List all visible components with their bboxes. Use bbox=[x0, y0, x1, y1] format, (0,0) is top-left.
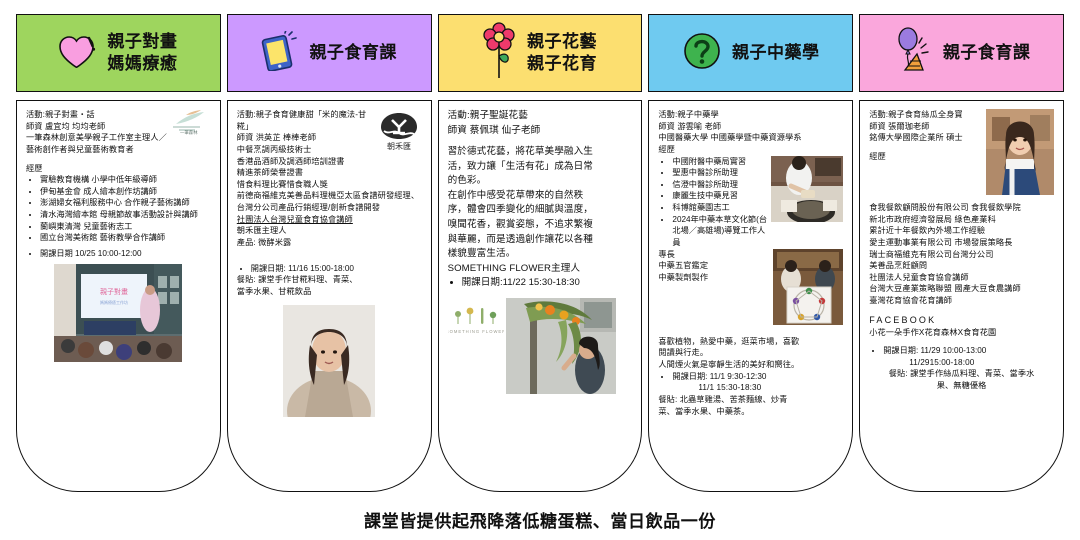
course-title-5: 親子食育課 bbox=[943, 42, 1031, 64]
course-header-5[interactable]: 親子食育課 bbox=[859, 14, 1064, 92]
course-header-1[interactable]: 親子對畫 媽媽療癒 bbox=[16, 14, 221, 92]
course-body-2: 朝禾匯 活動:親子食育健康甜「米的魔法-甘糀」 師資 洪英芷 棒棒老師 中餐烹調… bbox=[227, 100, 432, 492]
course-intro-4: 活動:親子中藥學 師資 游雲喻 老師 中國醫藥大學 中國藥學暨中藥資源學系 bbox=[658, 109, 843, 144]
course-column-1: 親子對畫 媽媽療癒 一筆森林 活動:親子對畫・話 師資 盧宜均 均均老師 一筆森… bbox=[16, 14, 221, 492]
course-link-line-2[interactable]: 社團法人台灣兒童食育協會講師 bbox=[237, 214, 422, 226]
footer-note: 課堂皆提供起飛降落低糖蛋糕、當日飲品一份 bbox=[0, 507, 1080, 532]
course-date: 開課日期 10/25 10:00-12:00 bbox=[40, 248, 211, 260]
instructor-portrait-2 bbox=[283, 305, 375, 422]
course-description-4: 喜歡植物，熱愛中藥，逛菜市場，喜歡 閱讀與行走。 人間煙火氣是寧靜生活的美好和嚮… bbox=[658, 336, 843, 371]
course-body-5: 活動:親子食育絲瓜全身寶 師資 張爾珈老師 銘傳大學國際企業所 碩士 經歷 食我… bbox=[859, 100, 1064, 492]
course-date: 開課日期: 11/1 9:30-12:30 bbox=[672, 371, 843, 383]
section-label-experience-1: 經歷 bbox=[26, 163, 211, 175]
list-item: 蘭嶼東清灣 兒童藝術志工 bbox=[40, 221, 211, 233]
section-label-experience-4: 經歷 bbox=[658, 144, 843, 156]
course-tail-2: 朝禾匯主理人 產品: 微酵米露 bbox=[237, 225, 422, 248]
course-intro-3: 活動:親子聖誕花藝 師資 蔡佩琪 仙子老師 bbox=[448, 109, 633, 138]
course-photo-wrap-3: SOMETHING FLOWER bbox=[448, 298, 633, 399]
question-mark-icon bbox=[682, 31, 722, 76]
svg-text:親子對畫: 親子對畫 bbox=[100, 287, 128, 296]
course-column-4: 親子中藥學 活動:親子中藥學 師資 游雲喻 老師 中國醫藥大學 中國藥學暨中藥資… bbox=[648, 14, 853, 492]
list-item: 實驗教育機構 小學中低年級導師 bbox=[40, 174, 211, 186]
course-header-3[interactable]: 親子花藝 親子花育 bbox=[438, 14, 643, 92]
course-date: 開課日期: 11/16 15:00-18:00 bbox=[251, 263, 422, 275]
course-body-3: 活動:親子聖誕花藝 師資 蔡佩琪 仙子老師 習於德式花藝，將花草美學融入生 活，… bbox=[438, 100, 643, 492]
course-meal-5: 餐貼: 課堂手作絲瓜料理、青菜、當季水 果、無糖優格 bbox=[869, 368, 1054, 391]
course-body-1: 一筆森林 活動:親子對畫・話 師資 盧宜均 均均老師 一筆森林創意美學親子工作室… bbox=[16, 100, 221, 492]
heart-icon bbox=[59, 34, 97, 73]
svg-text:朝禾匯: 朝禾匯 bbox=[387, 142, 411, 151]
course-title-2: 親子食育課 bbox=[309, 42, 397, 64]
flower-icon bbox=[483, 22, 517, 85]
course-column-2: 親子食育課 朝禾匯 活動:親子食育健康甜「米的魔法-甘糀」 師資 洪英芷 棒棒老… bbox=[227, 14, 432, 492]
svg-text:SOMETHING FLOWER: SOMETHING FLOWER bbox=[448, 329, 504, 334]
balloon-party-icon bbox=[893, 26, 933, 81]
course-date: 開課日期: 11/29 10:00-13:00 bbox=[883, 345, 1054, 357]
schedule-list-3: 開課日期:11/22 15:30-18:30 bbox=[448, 276, 633, 291]
course-column-3: 親子花藝 親子花育 活動:親子聖誕花藝 師資 蔡佩琪 仙子老師 習於德式花藝，將… bbox=[438, 14, 643, 492]
course-photo-wrap-1: 親子對畫 媽媽療癒工作坊 bbox=[26, 264, 211, 367]
list-item: 國立台灣美術館 藝術教學合作講師 bbox=[40, 232, 211, 244]
course-header-2[interactable]: 親子食育課 bbox=[227, 14, 432, 92]
facebook-value-5[interactable]: 小花一朵手作X花育森林X食育花園 bbox=[869, 327, 1054, 339]
course-meal-2: 餐貼: 課堂手作甘糀料理、青菜、 當季水果、甘糀飲品 bbox=[237, 274, 422, 297]
course-columns: 親子對畫 媽媽療癒 一筆森林 活動:親子對畫・話 師資 盧宜均 均均老師 一筆森… bbox=[0, 0, 1080, 492]
partner-logo-icon-1: 一筆森林 bbox=[170, 109, 210, 140]
tablet-icon bbox=[261, 31, 299, 76]
list-item: 清水海灣繪本館 母親節故事活動設計與講師 bbox=[40, 209, 211, 221]
course-body-4: 活動:親子中藥學 師資 游雲喻 老師 中國醫藥大學 中國藥學暨中藥資源學系 經歷 bbox=[648, 100, 853, 492]
schedule-list-2: 開課日期: 11/16 15:00-18:00 bbox=[237, 263, 422, 275]
schedule-list-4: 開課日期: 11/1 9:30-12:30 bbox=[658, 371, 843, 383]
schedule-list-1: 開課日期 10/25 10:00-12:00 bbox=[26, 248, 211, 260]
something-flower-logo-icon: SOMETHING FLOWER bbox=[448, 298, 504, 343]
course-photo-wrap-2 bbox=[237, 305, 422, 422]
experience-list-1: 實驗教育機構 小學中低年級導師 伊甸基金會 成人繪本創作坊講師 澎湖婦女福利服務… bbox=[26, 174, 211, 244]
svg-text:一筆森林: 一筆森林 bbox=[180, 129, 198, 135]
course-description-3: 習於德式花藝，將花草美學融入生 活，致力讓「生活有花」成為日常 的色彩。 在創作… bbox=[448, 145, 633, 276]
list-item: 伊甸基金會 成人繪本創作坊講師 bbox=[40, 186, 211, 198]
herb-festival-photo-4 bbox=[773, 249, 843, 330]
course-title-4: 親子中藥學 bbox=[732, 42, 820, 64]
course-description-5: 食我餐飲顧問股份有限公司 食我餐飲學院 新北市政府經濟發展局 綠色產業科 累計近… bbox=[869, 202, 1054, 307]
course-date-extra-4: 11/1 15:30-18:30 bbox=[658, 382, 843, 394]
course-date-extra-5: 11/2915:00-18:00 bbox=[869, 357, 1054, 369]
poster-page: 親子對畫 媽媽療癒 一筆森林 活動:親子對畫・話 師資 盧宜均 均均老師 一筆森… bbox=[0, 0, 1080, 540]
facebook-label-5: FACEBOOK bbox=[869, 314, 1054, 327]
list-item: 澎湖婦女福利服務中心 合作親子藝術講師 bbox=[40, 197, 211, 209]
course-title-1: 親子對畫 媽媽療癒 bbox=[107, 31, 177, 75]
course-header-4[interactable]: 親子中藥學 bbox=[648, 14, 853, 92]
svg-text:媽媽療癒工作坊: 媽媽療癒工作坊 bbox=[100, 299, 128, 305]
course-column-5: 親子食育課 bbox=[859, 14, 1064, 492]
schedule-list-5: 開課日期: 11/29 10:00-13:00 bbox=[869, 345, 1054, 357]
chaohehui-logo-icon: 朝禾匯 bbox=[376, 109, 422, 158]
course-title-3: 親子花藝 親子花育 bbox=[527, 31, 597, 75]
instructor-portrait-5 bbox=[986, 109, 1054, 200]
course-date: 開課日期:11/22 15:30-18:30 bbox=[462, 276, 633, 291]
classroom-photo-1: 親子對畫 媽媽療癒工作坊 bbox=[54, 264, 182, 367]
herb-preparation-photo-4 bbox=[771, 156, 843, 227]
floral-arch-photo-3 bbox=[506, 298, 616, 399]
course-meal-4: 餐貼: 北蟲草雞湯、苦茶麵線、炒青 菜、當季水果、中藥茶。 bbox=[658, 394, 843, 417]
